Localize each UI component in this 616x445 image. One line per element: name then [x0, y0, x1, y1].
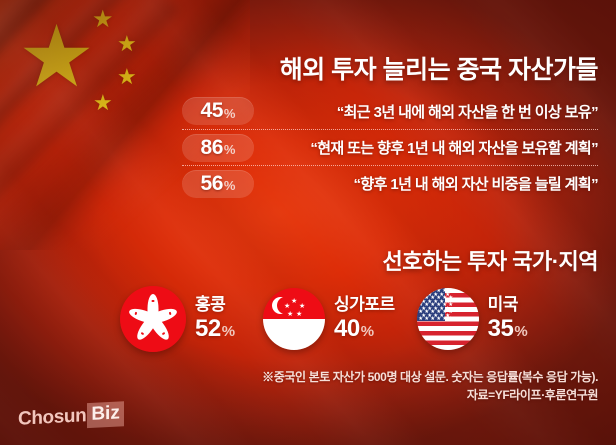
- percentage-unit: %: [224, 142, 236, 157]
- us-flag-star-icon: ★: [430, 317, 435, 323]
- country-percentage-unit: %: [222, 323, 235, 340]
- united-states-flag-icon: ★★★★★★★★★★★★★★★★★★★★★★★★★★★★★★★★★★★★★★★★…: [417, 288, 479, 350]
- country-name: 싱가포르: [334, 296, 395, 314]
- country-percentage-value: 52: [195, 315, 221, 342]
- country-item-hong-kong: 홍콩 52%: [120, 286, 235, 352]
- percentage-value: 56: [201, 172, 223, 196]
- statistic-row: 86 % “현재 또는 향후 1년 내 해외 자산을 보유할 계획”: [182, 129, 598, 165]
- infographic-canvas: ★ ★ ★ ★ ★ 해외 투자 늘리는 중국 자산가들 45 % “최근 3년 …: [0, 0, 616, 445]
- statistic-row: 45 % “최근 3년 내에 해외 자산을 한 번 이상 보유”: [182, 93, 598, 129]
- country-percentage-unit: %: [361, 323, 374, 340]
- us-flag-star-icon: ★: [436, 317, 441, 323]
- percentage-badge: 56 %: [182, 170, 254, 198]
- percentage-value: 45: [201, 99, 223, 123]
- country-item-singapore: ★ ★ ★ ★ ★ 싱가포르 40%: [263, 288, 395, 350]
- hong-kong-flag-icon: [120, 286, 186, 352]
- percentage-unit: %: [224, 178, 236, 193]
- footnote: ※중국인 본토 자산가 500명 대상 설문. 숫자는 응답률(복수 응답 가능…: [262, 368, 598, 405]
- survey-note: ※중국인 본토 자산가 500명 대상 설문. 숫자는 응답률(복수 응답 가능…: [262, 370, 598, 384]
- singapore-flag-icon: ★ ★ ★ ★ ★: [263, 288, 325, 350]
- statistic-row: 56 % “향후 1년 내 해외 자산 비중을 늘릴 계획”: [182, 165, 598, 201]
- country-percentage-unit: %: [514, 323, 527, 340]
- country-preference-list: 홍콩 52% ★ ★ ★ ★ ★: [120, 281, 606, 357]
- statistic-quote: “현재 또는 향후 1년 내 해외 자산을 보유할 계획”: [254, 137, 598, 158]
- country-percentage-value: 40: [334, 315, 360, 342]
- percentage-badge: 86 %: [182, 134, 254, 162]
- us-flag-star-icon: ★: [448, 317, 453, 323]
- country-name: 홍콩: [195, 296, 235, 314]
- us-flag-star-icon: ★: [442, 317, 447, 323]
- percentage-value: 86: [201, 136, 223, 160]
- source-line: 자료=YF라이프·후룬연구원: [262, 386, 598, 405]
- statistics-list: 45 % “최근 3년 내에 해외 자산을 한 번 이상 보유” 86 % “현…: [182, 93, 598, 201]
- country-name: 미국: [488, 296, 528, 314]
- us-flag-star-icon: ★: [424, 317, 429, 323]
- country-percentage-value: 35: [488, 315, 514, 342]
- percentage-badge: 45 %: [182, 97, 254, 125]
- logo-primary-text: Chosun: [18, 405, 86, 431]
- chosunbiz-logo: Chosun Biz: [18, 401, 124, 432]
- page-title: 해외 투자 늘리는 중국 자산가들: [280, 50, 598, 86]
- logo-accent-text: Biz: [87, 401, 124, 428]
- percentage-unit: %: [224, 106, 236, 121]
- us-flag-star-icon: ★: [418, 317, 423, 323]
- section-subtitle: 선호하는 투자 국가·지역: [383, 244, 598, 276]
- country-item-united-states: ★★★★★★★★★★★★★★★★★★★★★★★★★★★★★★★★★★★★★★★★…: [417, 288, 528, 350]
- statistic-quote: “향후 1년 내 해외 자산 비중을 늘릴 계획”: [254, 173, 598, 194]
- statistic-quote: “최근 3년 내에 해외 자산을 한 번 이상 보유”: [254, 101, 598, 122]
